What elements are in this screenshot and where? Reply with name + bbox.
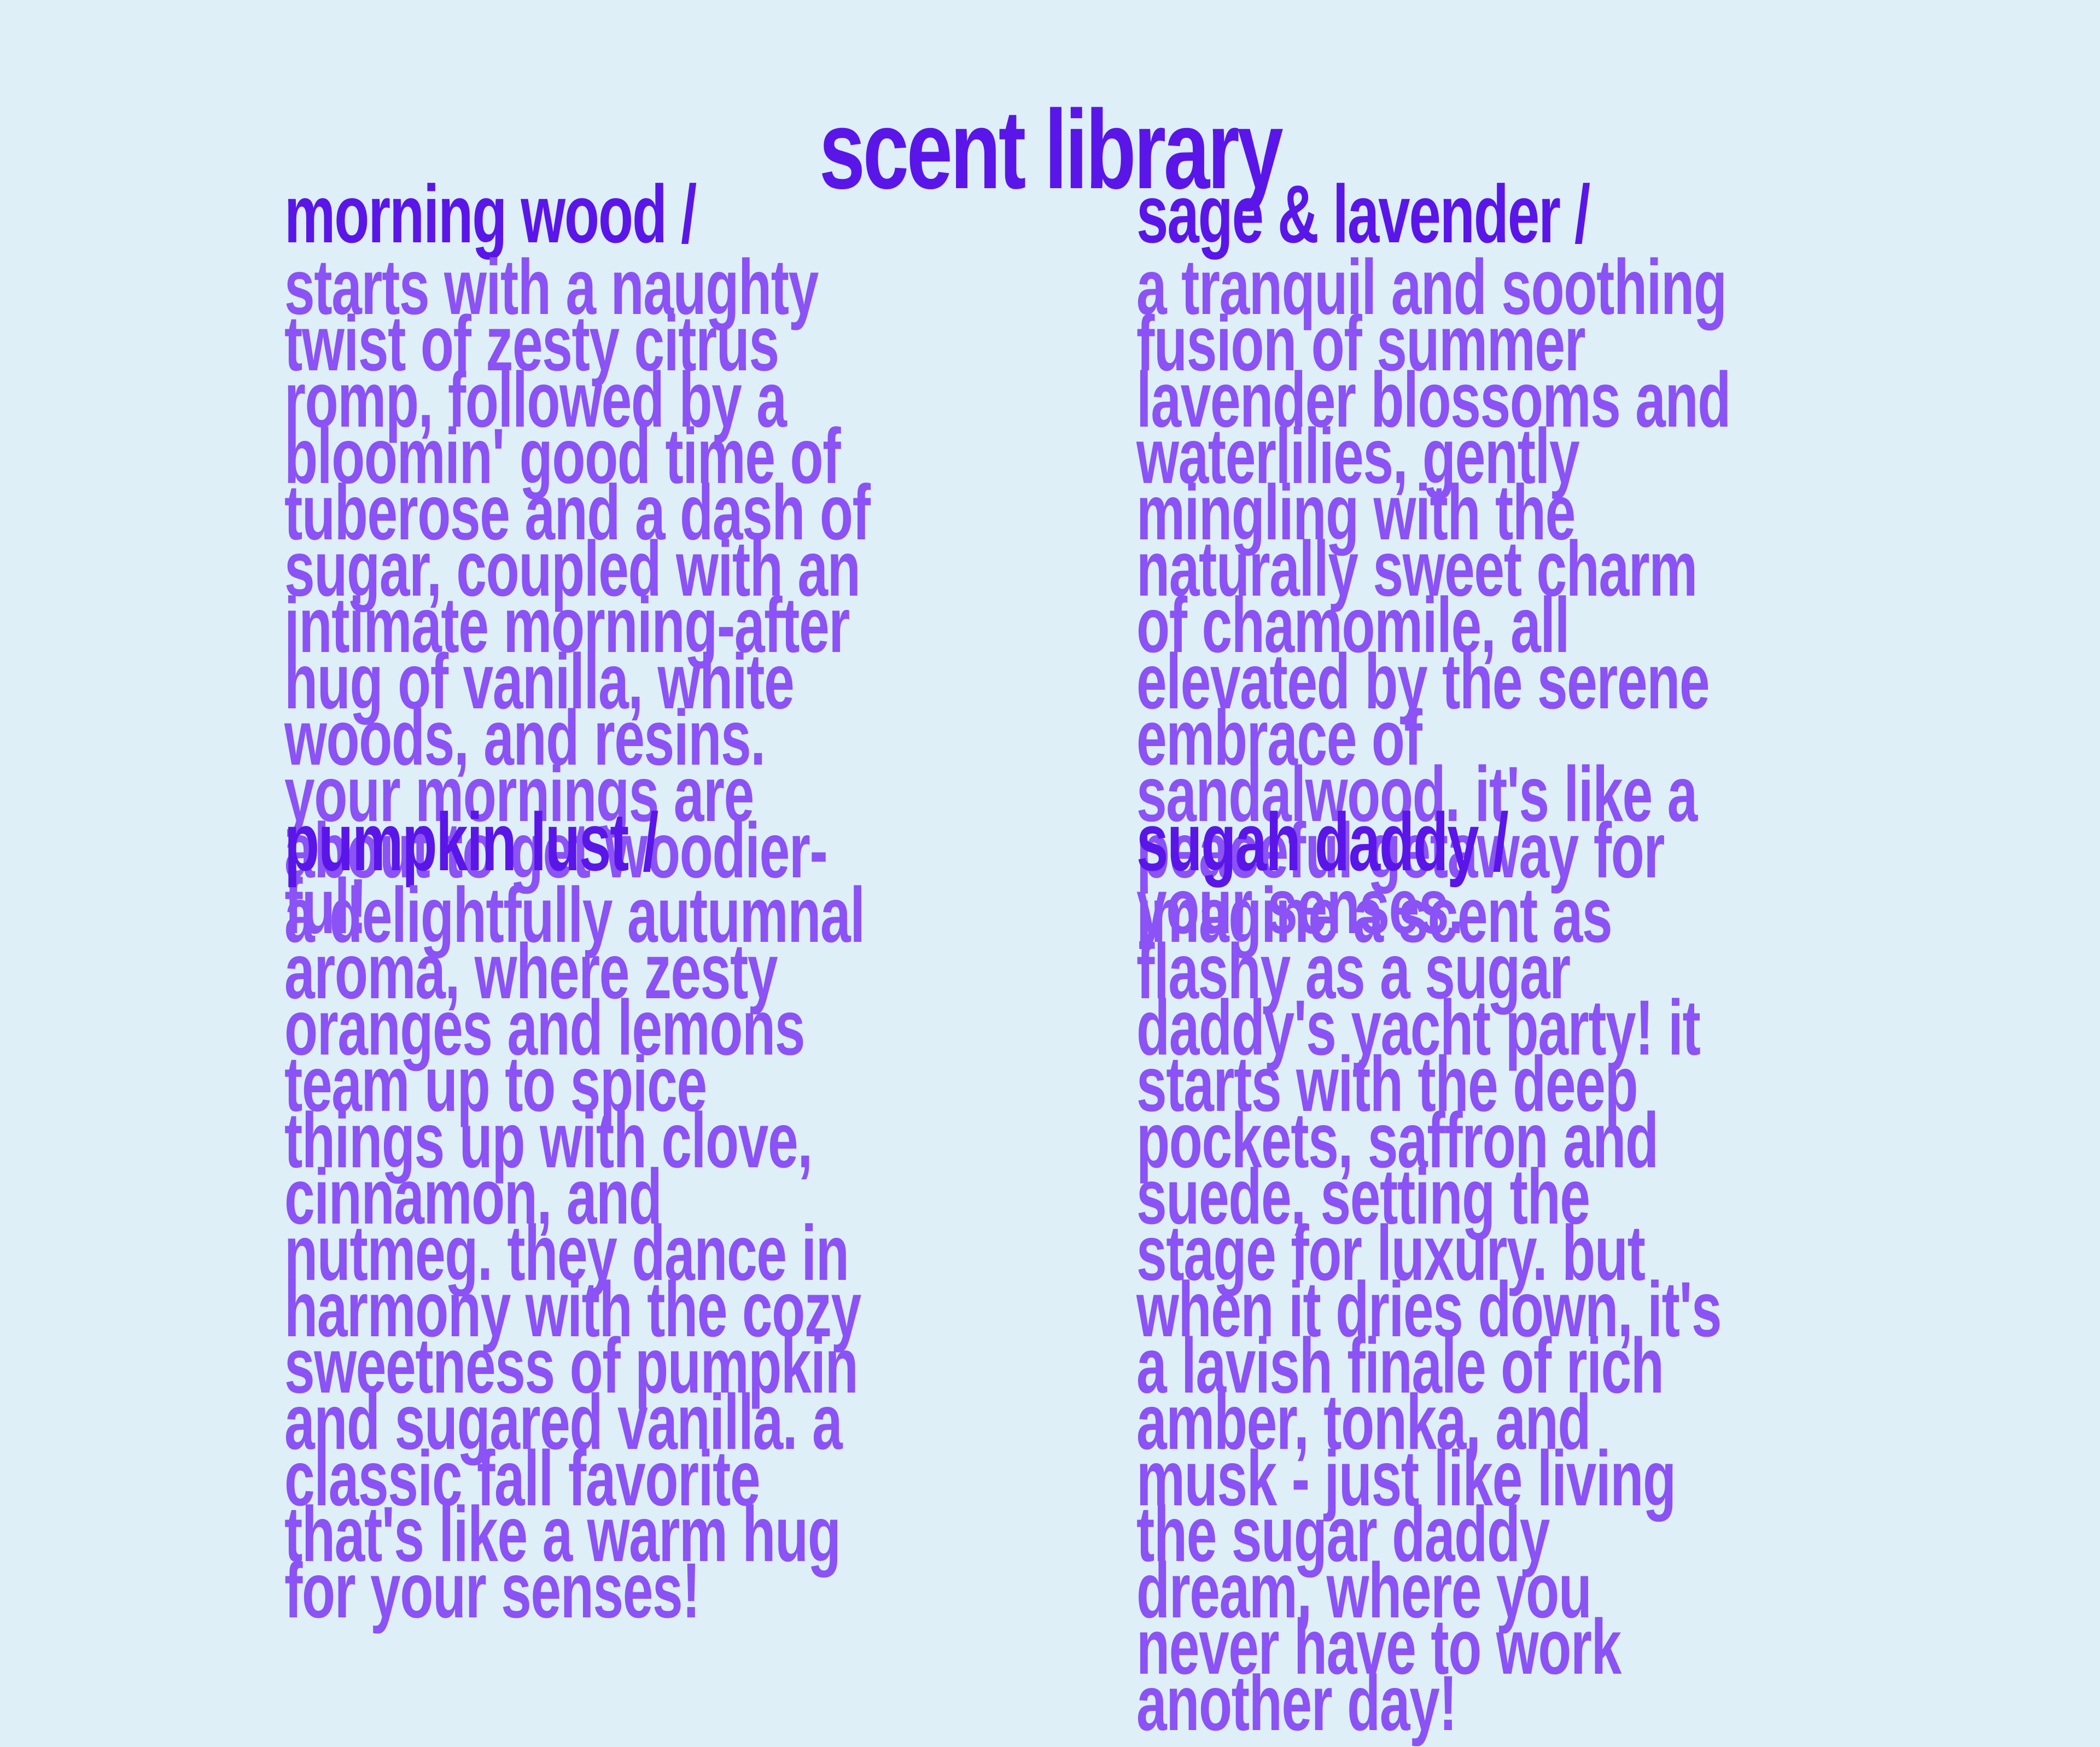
scent-name-morning-wood: morning wood /: [284, 173, 881, 255]
scent-description-pumpkin-lust: a delightfully autumnal aroma, where zes…: [284, 888, 878, 1620]
scent-entry-sugah-daddy: sugah daddy / imagine a scent as flashy …: [1136, 801, 1991, 1732]
scent-name-sugah-daddy: sugah daddy /: [1136, 801, 1734, 883]
scent-name-sage-and-lavender: sage & lavender /: [1136, 173, 1734, 255]
scent-entry-pumpkin-lust: pumpkin lust / a delightfully autumnal a…: [284, 801, 1136, 1732]
scent-library-grid: morning wood / starts with a naughty twi…: [284, 173, 1991, 1732]
scent-entry-morning-wood: morning wood / starts with a naughty twi…: [284, 173, 1136, 801]
scent-name-pumpkin-lust: pumpkin lust /: [284, 801, 881, 883]
scent-description-sugah-daddy: imagine a scent as flashy as a sugar dad…: [1136, 888, 1732, 1732]
scent-entry-sage-and-lavender: sage & lavender / a tranquil and soothin…: [1136, 173, 1991, 801]
